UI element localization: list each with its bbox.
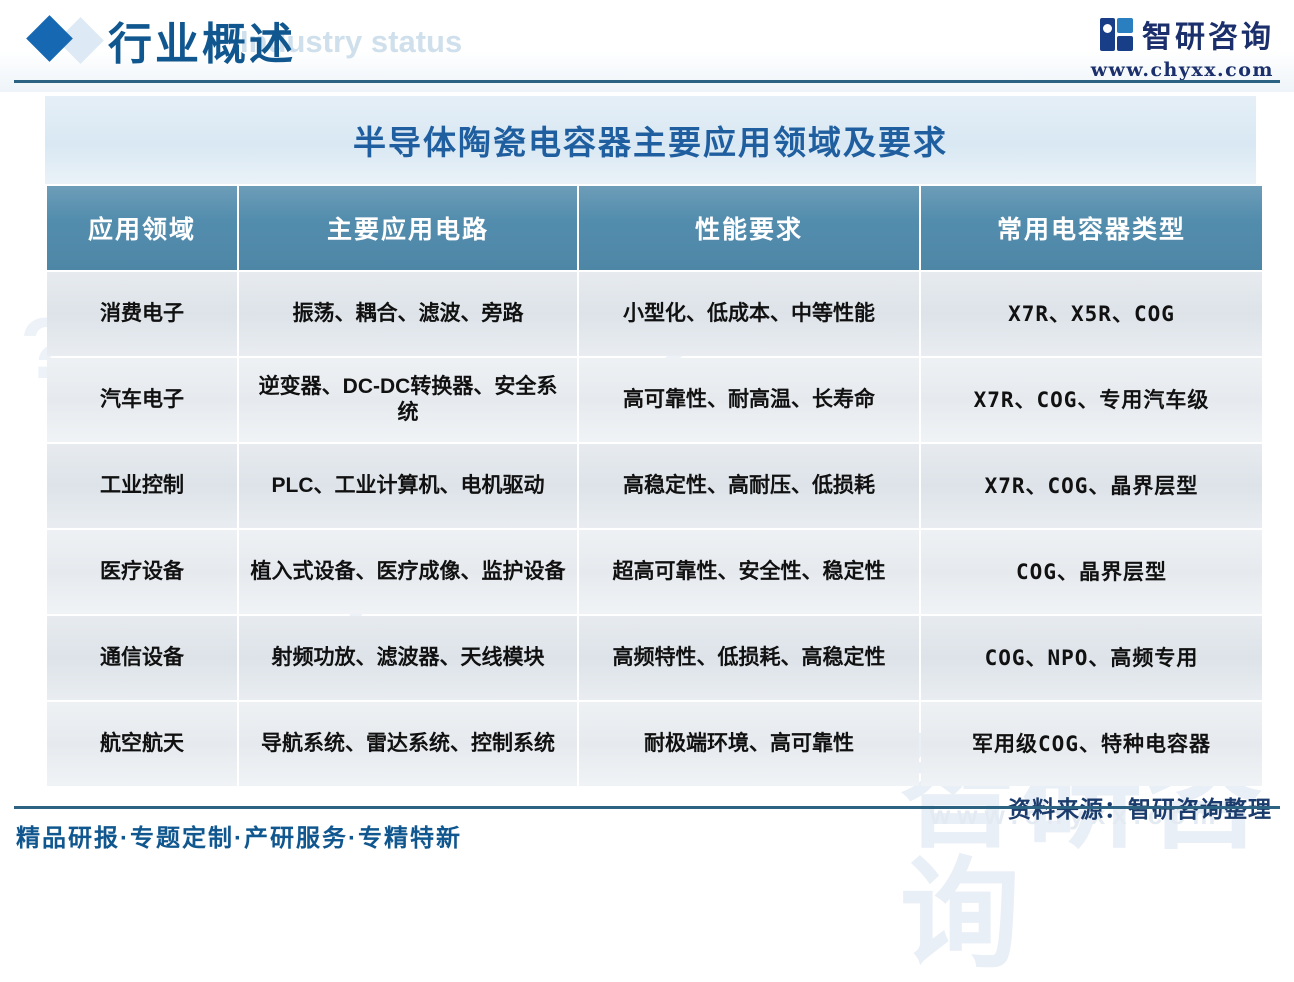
cell-requirement: 高频特性、低损耗、高稳定性 (579, 616, 919, 700)
table-row: 工业控制 PLC、工业计算机、电机驱动 高稳定性、高耐压、低损耗 X7R、COG… (47, 444, 1262, 528)
cell-type: COG、晶界层型 (921, 530, 1262, 614)
table-row: 通信设备 射频功放、滤波器、天线模块 高频特性、低损耗、高稳定性 COG、NPO… (47, 616, 1262, 700)
table-row: 汽车电子 逆变器、DC-DC转换器、安全系统 高可靠性、耐高温、长寿命 X7R、… (47, 358, 1262, 442)
cell-circuit: 逆变器、DC-DC转换器、安全系统 (239, 358, 577, 442)
brand-block: 智研咨询 www.chyxx.com (1091, 12, 1274, 81)
table-row: 医疗设备 植入式设备、医疗成像、监护设备 超高可靠性、安全性、稳定性 COG、晶… (47, 530, 1262, 614)
cell-requirement: 高可靠性、耐高温、长寿命 (579, 358, 919, 442)
cell-circuit: 射频功放、滤波器、天线模块 (239, 616, 577, 700)
brand-url: www.chyxx.com (1091, 59, 1274, 81)
table-row: 航空航天 导航系统、雷达系统、控制系统 耐极端环境、高可靠性 军用级COG、特种… (47, 702, 1262, 786)
cell-type: 军用级COG、特种电容器 (921, 702, 1262, 786)
cell-requirement: 耐极端环境、高可靠性 (579, 702, 919, 786)
footer-divider (14, 806, 1280, 809)
cell-requirement: 超高可靠性、安全性、稳定性 (579, 530, 919, 614)
cell-field: 航空航天 (47, 702, 237, 786)
cell-circuit: 植入式设备、医疗成像、监护设备 (239, 530, 577, 614)
cell-requirement: 高稳定性、高耐压、低损耗 (579, 444, 919, 528)
cell-field: 通信设备 (47, 616, 237, 700)
header-divider (14, 80, 1280, 83)
cell-field: 消费电子 (47, 272, 237, 356)
page-title: 行业概述 (108, 8, 296, 72)
cell-type: COG、NPO、高频专用 (921, 616, 1262, 700)
diamond-icon-solid (26, 15, 73, 62)
table-row: 消费电子 振荡、耦合、滤波、旁路 小型化、低成本、中等性能 X7R、X5R、CO… (47, 272, 1262, 356)
cell-field: 医疗设备 (47, 530, 237, 614)
cell-type: X7R、X5R、COG (921, 272, 1262, 356)
cell-circuit: 振荡、耦合、滤波、旁路 (239, 272, 577, 356)
table-card: 半导体陶瓷电容器主要应用领域及要求 应用领域 主要应用电路 性能要求 常用电容器… (45, 96, 1256, 788)
footer-tagline: 精品研报·专题定制·产研服务·专精特新 (16, 818, 462, 853)
brand-name: 智研咨询 (1142, 12, 1274, 56)
table-header-row: 应用领域 主要应用电路 性能要求 常用电容器类型 (47, 186, 1262, 270)
diamond-icon (28, 16, 120, 66)
cell-field: 汽车电子 (47, 358, 237, 442)
page-header: Industry status 行业概述 智研咨询 www.chyxx.com (0, 0, 1294, 92)
column-header-requirement: 性能要求 (579, 186, 919, 270)
cell-circuit: 导航系统、雷达系统、控制系统 (239, 702, 577, 786)
cell-type: X7R、COG、晶界层型 (921, 444, 1262, 528)
cell-type: X7R、COG、专用汽车级 (921, 358, 1262, 442)
brand-logo-icon (1100, 18, 1133, 51)
column-header-circuit: 主要应用电路 (239, 186, 577, 270)
column-header-type: 常用电容器类型 (921, 186, 1262, 270)
cell-circuit: PLC、工业计算机、电机驱动 (239, 444, 577, 528)
column-header-field: 应用领域 (47, 186, 237, 270)
cell-field: 工业控制 (47, 444, 237, 528)
applications-table: 应用领域 主要应用电路 性能要求 常用电容器类型 消费电子 振荡、耦合、滤波、旁… (45, 184, 1264, 788)
cell-requirement: 小型化、低成本、中等性能 (579, 272, 919, 356)
table-title: 半导体陶瓷电容器主要应用领域及要求 (45, 96, 1256, 184)
